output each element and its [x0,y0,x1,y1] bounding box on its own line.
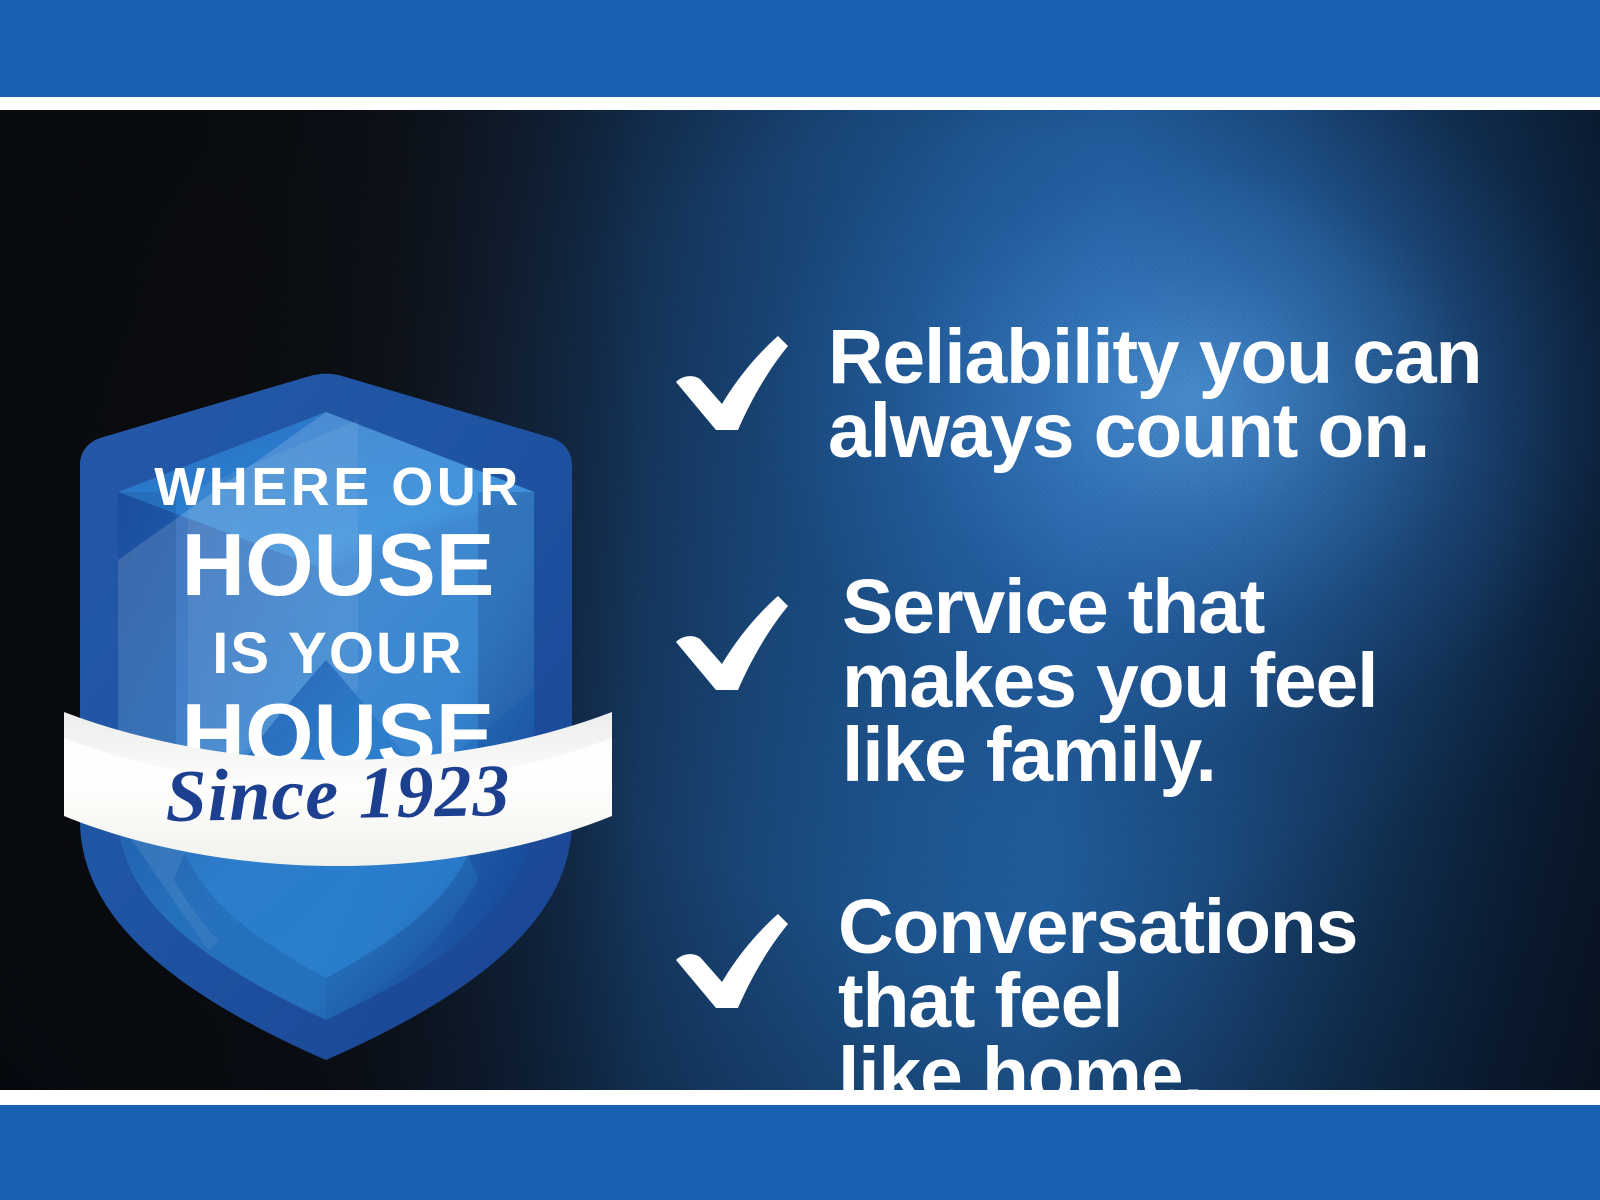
check-icon [660,326,790,446]
benefit-item-service: Service that makes you feel like family. [660,570,1377,792]
ribbon-band [58,260,618,1060]
benefits-list: Reliability you can always count on. Ser… [660,270,1560,1090]
badge: WHERE OUR HOUSE IS YOUR HOUSE Since 1923 [58,260,618,1060]
check-icon [660,586,790,706]
top-white-divider [0,97,1600,110]
benefit-item-conversations: Conversations that feel like home. [660,890,1357,1090]
benefit-text-reliability: Reliability you can always count on. [828,320,1481,468]
top-brand-bar [0,0,1600,97]
promo-graphic: WHERE OUR HOUSE IS YOUR HOUSE Since 1923 [0,0,1600,1200]
bottom-brand-bar [0,1105,1600,1200]
benefit-text-conversations: Conversations that feel like home. [838,890,1357,1090]
check-icon [660,904,790,1024]
benefit-item-reliability: Reliability you can always count on. [660,320,1481,468]
main-canvas: WHERE OUR HOUSE IS YOUR HOUSE Since 1923 [0,110,1600,1090]
bottom-white-divider [0,1090,1600,1105]
benefit-text-service: Service that makes you feel like family. [842,570,1377,792]
